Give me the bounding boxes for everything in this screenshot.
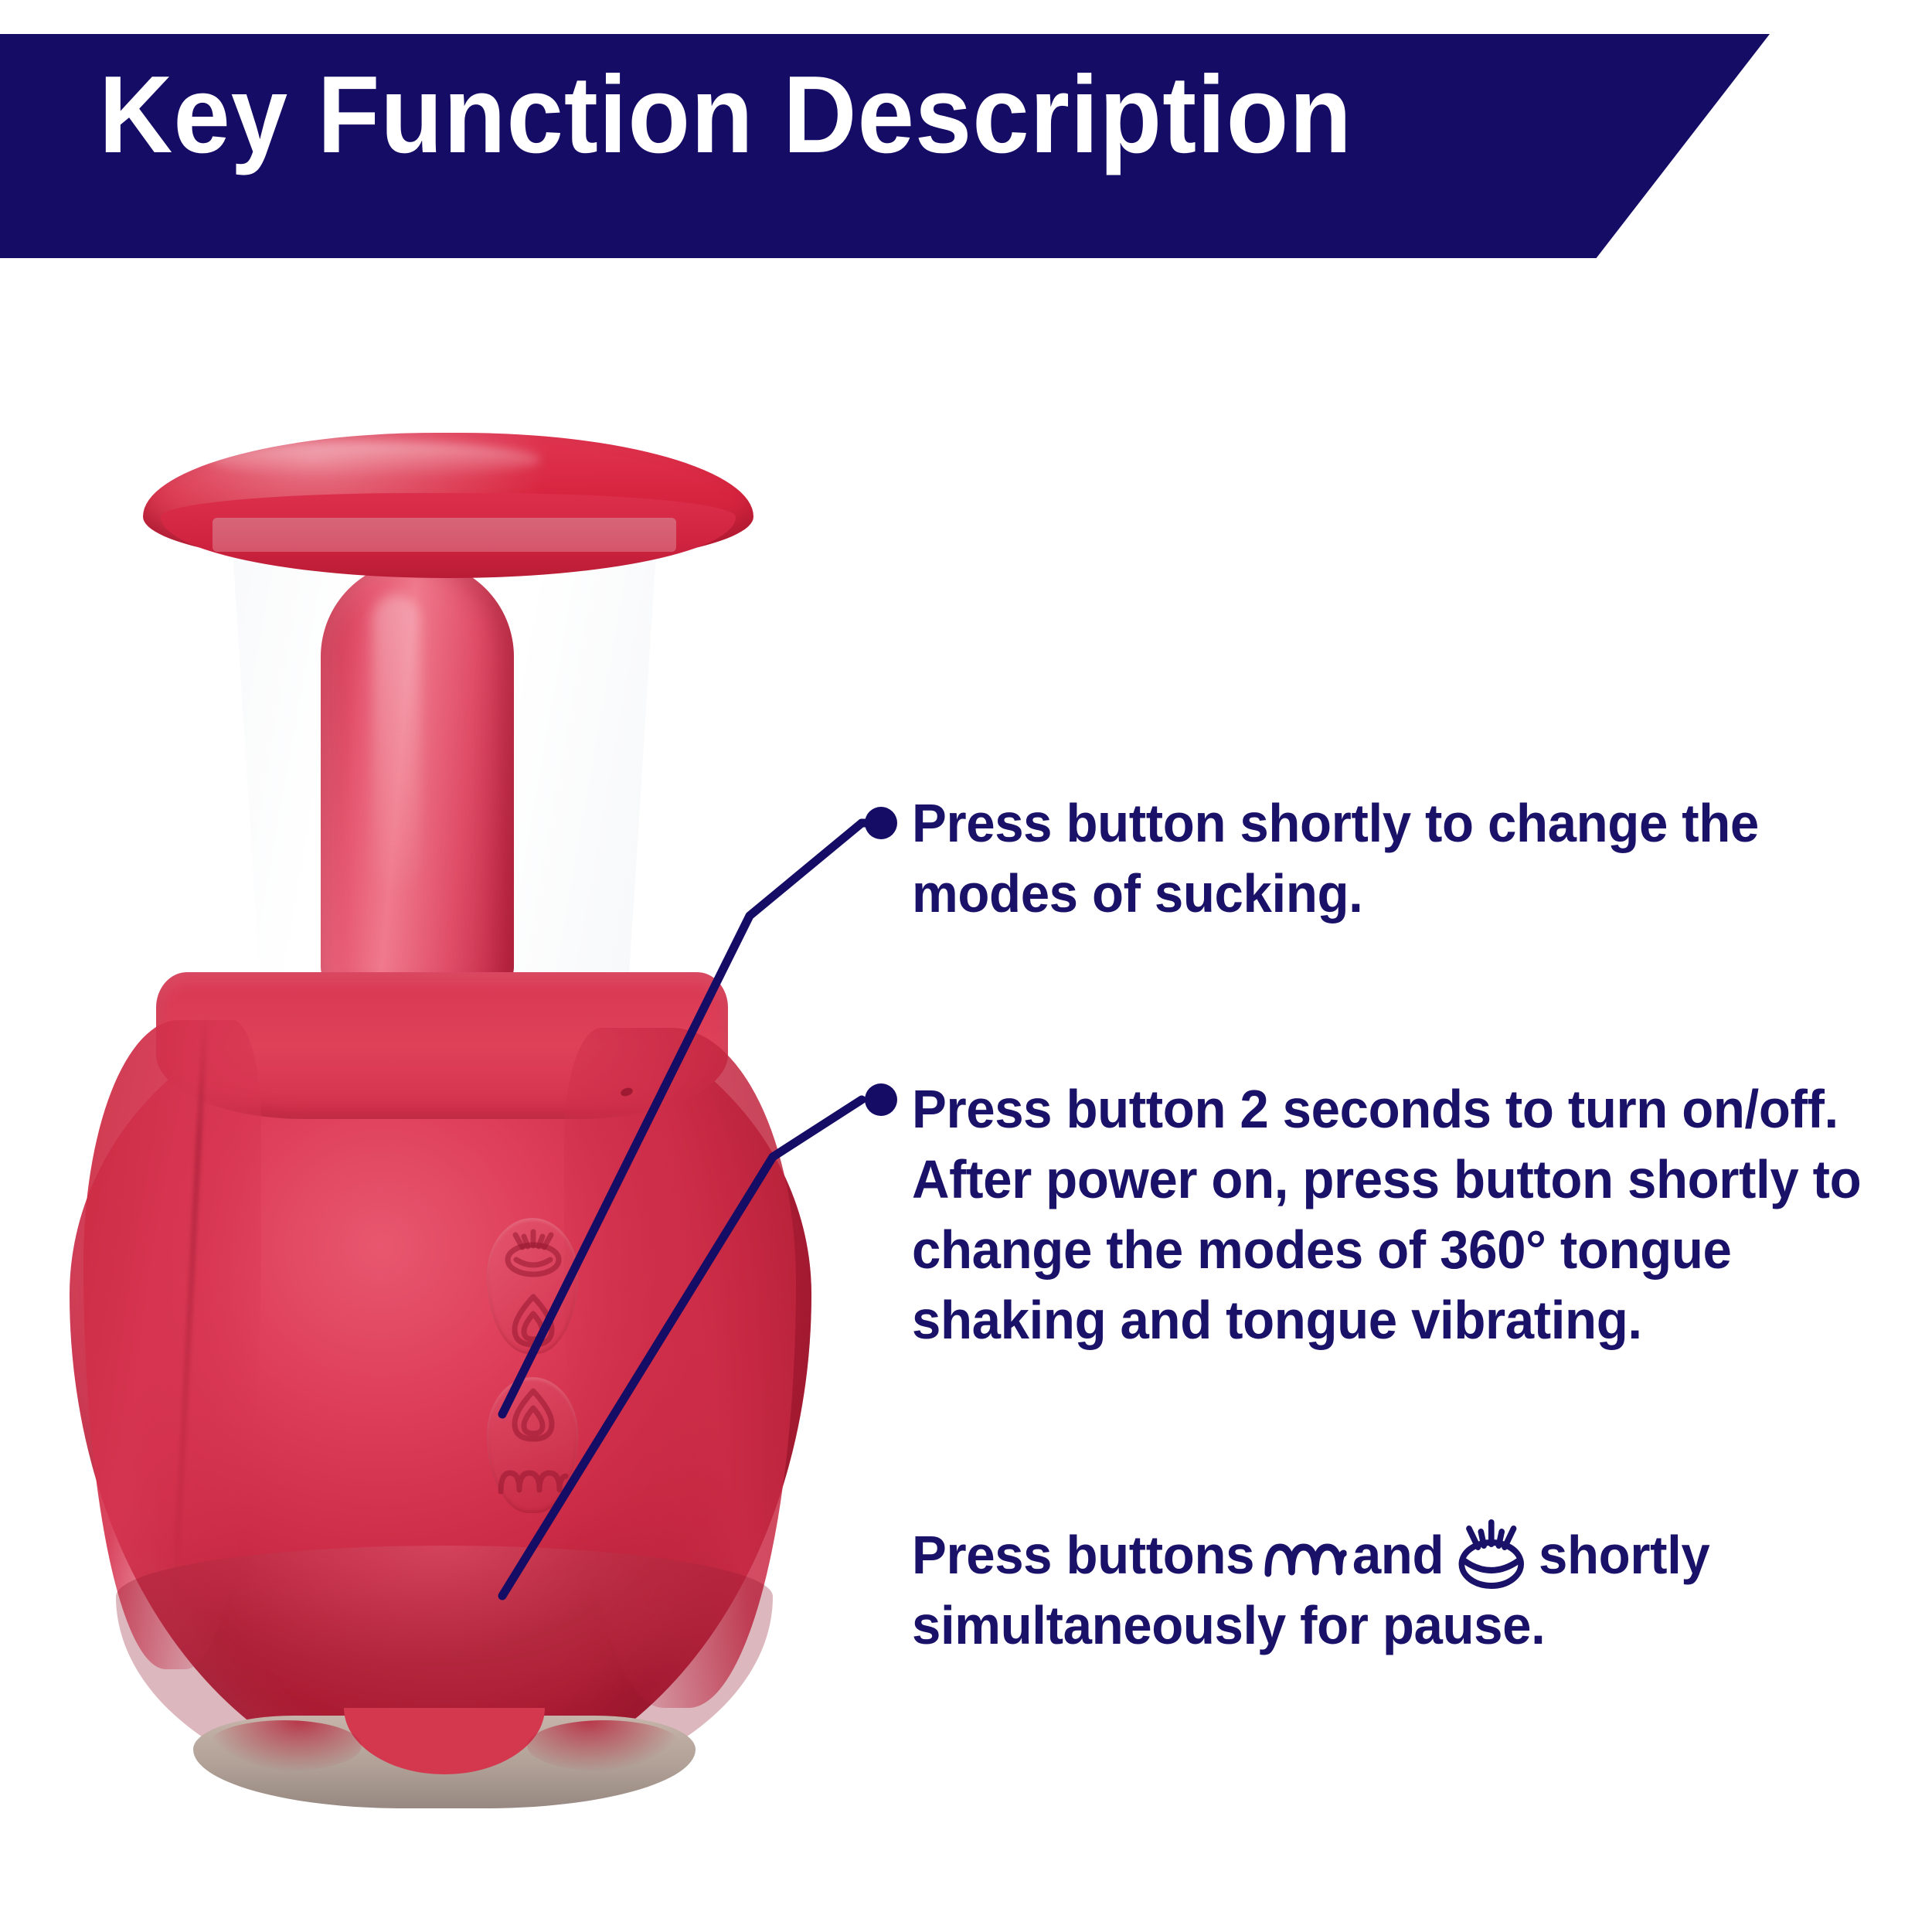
wave-icon bbox=[1260, 1535, 1346, 1586]
device-base-shadow-left bbox=[207, 1720, 362, 1771]
cap-rim-highlight bbox=[209, 442, 541, 478]
tongue-crown-icon bbox=[496, 1226, 570, 1280]
page-title: Key Function Description bbox=[99, 60, 1352, 170]
device-base-shadow-right bbox=[527, 1720, 682, 1771]
droplet-icon bbox=[507, 1291, 560, 1351]
leader-bullet-2 bbox=[865, 1083, 897, 1116]
droplet-icon-lower bbox=[507, 1385, 560, 1445]
leader-bullet-1 bbox=[865, 807, 897, 839]
callout-sucking-modes: Press button shortly to change the modes… bbox=[912, 788, 1876, 929]
cap-transparent-band bbox=[213, 518, 676, 552]
callout-pause: Press buttons and shortly simultaneously… bbox=[912, 1516, 1876, 1661]
callout-power-and-tongue-modes: Press button 2 seconds to turn on/off. A… bbox=[912, 1074, 1876, 1355]
product-illustration bbox=[70, 402, 850, 1870]
pause-text-after: shortly bbox=[1539, 1525, 1709, 1585]
pause-text-line2: simultaneously for pause. bbox=[912, 1595, 1545, 1655]
pause-text-before: Press buttons bbox=[912, 1525, 1254, 1585]
tongue-crown-icon bbox=[1450, 1516, 1533, 1590]
tongue-highlight bbox=[372, 595, 420, 889]
pause-text-middle: and bbox=[1352, 1525, 1444, 1585]
wave-icon bbox=[495, 1459, 572, 1507]
